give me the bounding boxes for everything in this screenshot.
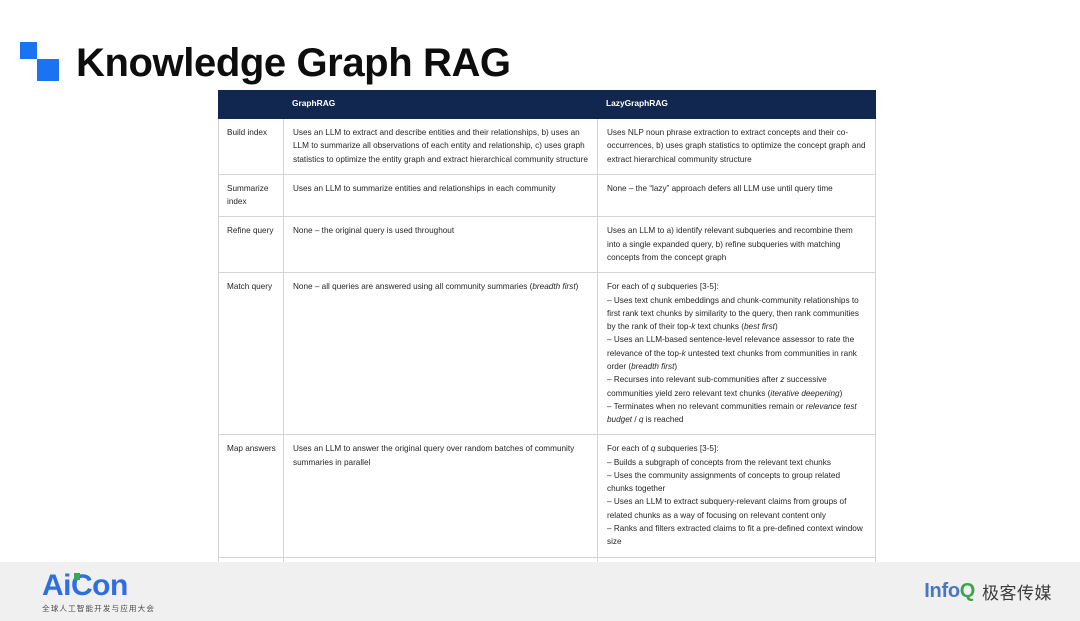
cell-graphrag-summarize-index: Uses an LLM to summarize entities and re… bbox=[284, 174, 598, 217]
cell-graphrag-map-answers: Uses an LLM to answer the original query… bbox=[284, 435, 598, 557]
cell-lazygraphrag-refine-query: Uses an LLM to a) identify relevant subq… bbox=[598, 217, 876, 273]
slide-header: Knowledge Graph RAG bbox=[0, 32, 511, 94]
comparison-table-container: GraphRAG LazyGraphRAG Build index Uses a… bbox=[218, 90, 875, 600]
row-label-summarize-index: Summarize index bbox=[219, 174, 284, 217]
cell-graphrag-match-query: None – all queries are answered using al… bbox=[284, 273, 598, 435]
brand-squares-icon bbox=[18, 41, 62, 85]
aicon-subtitle: 全球人工智能开发与应用大会 bbox=[42, 605, 155, 613]
infoq-info-text: Info bbox=[924, 580, 959, 602]
cell-graphrag-build-index: Uses an LLM to extract and describe enti… bbox=[284, 119, 598, 175]
square-large-icon bbox=[37, 59, 59, 81]
infoq-chinese-text: 极客传媒 bbox=[982, 579, 1052, 604]
infoq-logo: InfoQ 极客传媒 bbox=[924, 579, 1052, 604]
page-title: Knowledge Graph RAG bbox=[76, 43, 511, 83]
column-header-graphrag: GraphRAG bbox=[284, 91, 598, 119]
cell-graphrag-refine-query: None – the original query is used throug… bbox=[284, 217, 598, 273]
aicon-letter-i: i bbox=[63, 569, 71, 602]
table-row: Refine query None – the original query i… bbox=[219, 217, 876, 273]
row-label-refine-query: Refine query bbox=[219, 217, 284, 273]
footer-bar: AiCon 全球人工智能开发与应用大会 InfoQ 极客传媒 bbox=[0, 562, 1080, 621]
table-header-row: GraphRAG LazyGraphRAG bbox=[219, 91, 876, 119]
aicon-wordmark: AiCon bbox=[42, 571, 155, 601]
cell-lazygraphrag-map-answers: For each of q subqueries [3-5]:– Builds … bbox=[598, 435, 876, 557]
table-row: Summarize index Uses an LLM to summarize… bbox=[219, 174, 876, 217]
aicon-dot-icon bbox=[74, 573, 80, 580]
cell-lazygraphrag-match-query: For each of q subqueries [3-5]:– Uses te… bbox=[598, 273, 876, 435]
aicon-letter-a: A bbox=[42, 569, 63, 602]
cell-lazygraphrag-build-index: Uses NLP noun phrase extraction to extra… bbox=[598, 119, 876, 175]
comparison-table: GraphRAG LazyGraphRAG Build index Uses a… bbox=[218, 90, 876, 600]
table-row: Match query None – all queries are answe… bbox=[219, 273, 876, 435]
table-row: Map answers Uses an LLM to answer the or… bbox=[219, 435, 876, 557]
square-small-icon bbox=[20, 42, 37, 59]
row-label-match-query: Match query bbox=[219, 273, 284, 435]
row-label-map-answers: Map answers bbox=[219, 435, 284, 557]
table-row: Build index Uses an LLM to extract and d… bbox=[219, 119, 876, 175]
infoq-wordmark: InfoQ bbox=[924, 580, 975, 603]
infoq-q-text: Q bbox=[960, 580, 975, 602]
row-label-build-index: Build index bbox=[219, 119, 284, 175]
aicon-logo: AiCon 全球人工智能开发与应用大会 bbox=[42, 571, 155, 613]
column-header-lazygraphrag: LazyGraphRAG bbox=[598, 91, 876, 119]
cell-lazygraphrag-summarize-index: None – the “lazy” approach defers all LL… bbox=[598, 174, 876, 217]
column-header-blank bbox=[219, 91, 284, 119]
